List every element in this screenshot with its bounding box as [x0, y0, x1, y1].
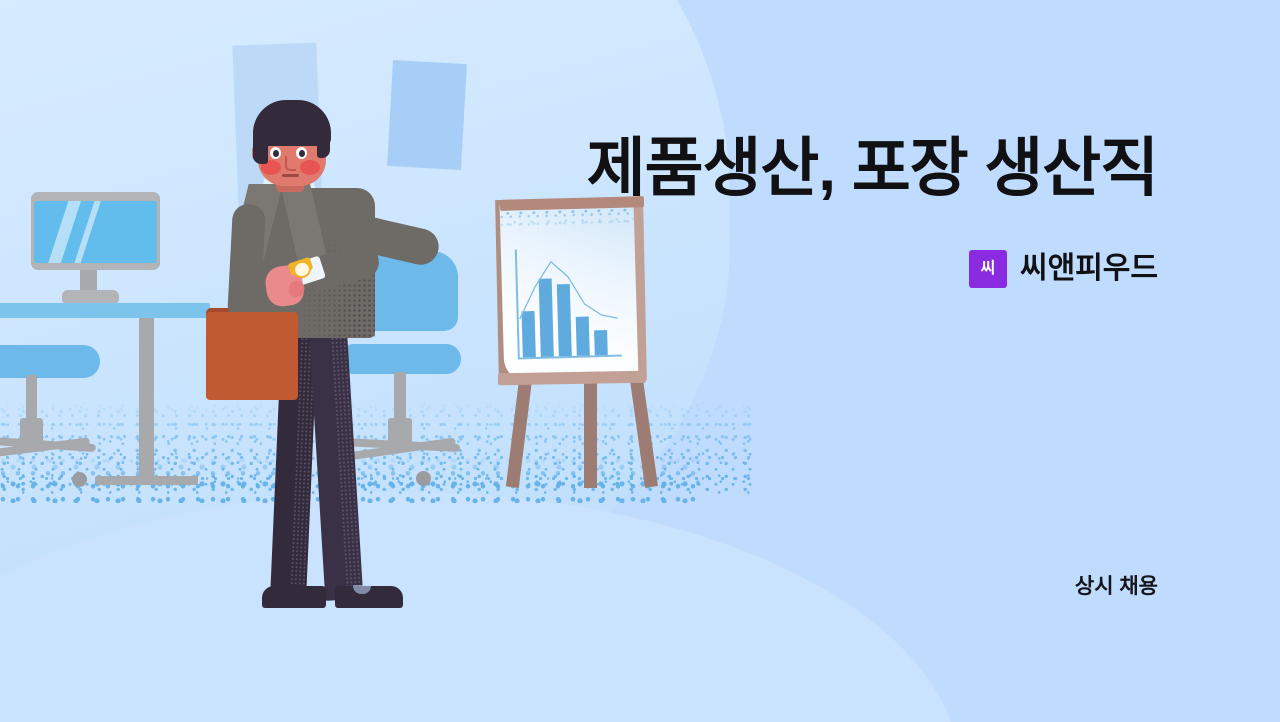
desk-foot — [95, 476, 198, 485]
flipchart-paper — [500, 202, 639, 381]
hair-sideburn-right — [317, 124, 330, 158]
easel-leg-middle — [584, 380, 597, 488]
trouser-leg-right — [309, 324, 364, 601]
hiring-status-badge: 상시 채용 — [1075, 576, 1158, 597]
monitor-screen — [34, 201, 157, 263]
hair-sideburn-left — [253, 126, 268, 164]
cheek-right — [300, 160, 320, 175]
monitor-stand-base — [62, 290, 119, 303]
bar-chart — [515, 245, 622, 360]
chair-seat — [0, 345, 100, 378]
pupil-left — [273, 150, 279, 157]
company-name: 씨앤피우드 — [1020, 254, 1158, 284]
desk-surface — [0, 303, 210, 318]
chart-bell-curve — [515, 245, 622, 360]
pupil-right — [299, 150, 305, 157]
company-logo-badge: 씨 — [969, 250, 1007, 288]
chair-wheel — [72, 472, 87, 487]
job-title: 제품생산, 포장 생산직 — [587, 136, 1158, 200]
chair-post — [26, 375, 37, 423]
businessman-illustration — [190, 100, 430, 610]
shoe-right — [335, 586, 403, 608]
nose — [285, 156, 296, 171]
text-content-column: 제품생산, 포장 생산직 씨 씨앤피우드 상시 채용 — [620, 0, 1280, 722]
desk-leg — [139, 318, 154, 481]
briefcase — [206, 312, 298, 400]
company-row: 씨 씨앤피우드 — [969, 250, 1158, 288]
fabric-texture — [330, 324, 362, 599]
mouth — [282, 174, 299, 177]
shoe-left — [262, 586, 326, 608]
job-posting-banner: 제품생산, 포장 생산직 씨 씨앤피우드 상시 채용 — [0, 0, 1280, 722]
arm-left — [227, 203, 266, 323]
